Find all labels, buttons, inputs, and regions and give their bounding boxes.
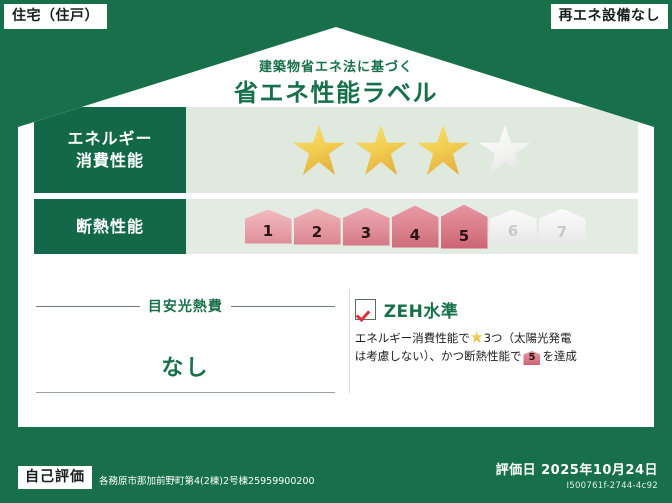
star-rating [186, 107, 638, 193]
cost-bottom-divider [36, 392, 335, 393]
insulation-level-badge-active: 3 [343, 208, 390, 246]
self-evaluation-block: 自己評価 各務原市那加前野町第4(2棟)2号棟25959900200 [18, 466, 315, 489]
footer-bar: 自己評価 各務原市那加前野町第4(2棟)2号棟25959900200 評価日 2… [0, 445, 672, 503]
insulation-level-badge-active: 2 [294, 209, 341, 245]
property-address: 各務原市那加前野町第4(2棟)2号棟25959900200 [99, 477, 315, 490]
title-subtitle: 建築物省エネ法に基づく [18, 61, 654, 74]
insulation-label-text: 断熱性能 [76, 216, 144, 238]
zeh-description: エネルギー消費性能で3つ（太陽光発電 は考慮しない）、かつ断熱性能で5を達成 [355, 330, 640, 366]
insulation-level-badge-inactive: 6 [490, 210, 537, 244]
energy-label-line2: 消費性能 [76, 150, 144, 172]
inline-level-badge: 5 [523, 351, 540, 366]
insulation-level-scale: 1234567 [186, 199, 638, 254]
cost-rule-right [231, 306, 335, 307]
star-filled-icon [293, 125, 345, 175]
inline-star-icon [471, 331, 483, 343]
evaluation-id: I500761f-2744-4c92 [496, 481, 658, 491]
star-empty-icon [479, 125, 531, 175]
renewable-energy-tag: 再エネ設備なし [551, 4, 669, 29]
cost-rule-left [36, 306, 140, 307]
zeh-desc-part4: を達成 [542, 349, 577, 363]
energy-performance-row: エネルギー 消費性能 [34, 107, 638, 193]
zeh-header: ZEH水準 [355, 297, 640, 322]
insulation-level-badge-active: 5 [441, 205, 488, 249]
insulation-level-badge-active: 1 [245, 210, 292, 244]
evaluation-date: 評価日 2025年10月24日 [496, 463, 658, 479]
zeh-checkbox-checked-icon[interactable] [355, 299, 376, 320]
insulation-level-badge-active: 4 [392, 206, 439, 248]
zeh-desc-part2: 3つ（太陽光発電 [484, 331, 572, 345]
label-card: 建築物省エネ法に基づく 省エネ性能ラベル エネルギー 消費性能 断熱性能 123… [18, 27, 654, 427]
insulation-performance-label: 断熱性能 [34, 199, 186, 254]
utility-cost-header: 目安光熱費 [36, 296, 335, 316]
utility-cost-value: なし [36, 350, 335, 382]
energy-label-line1: エネルギー [67, 128, 152, 150]
title-block: 建築物省エネ法に基づく 省エネ性能ラベル [18, 61, 654, 105]
evaluation-info: 評価日 2025年10月24日 I500761f-2744-4c92 [496, 463, 658, 491]
energy-label-root: 住宅（住戸） 再エネ設備なし 建築物省エネ法に基づく 省エネ性能ラベル エネルギ… [0, 0, 672, 503]
ratings-section: エネルギー 消費性能 断熱性能 1234567 [34, 107, 638, 260]
zeh-desc-part3: は考慮しない）、かつ断熱性能で [355, 349, 522, 363]
energy-performance-label: エネルギー 消費性能 [34, 107, 186, 193]
lower-section: 目安光熱費 なし ZEH水準 エネルギー消費性能で3つ（太陽光発電 は考慮しない… [18, 283, 654, 427]
insulation-performance-row: 断熱性能 1234567 [34, 199, 638, 254]
star-filled-icon [355, 125, 407, 175]
zeh-title: ZEH水準 [384, 297, 459, 322]
utility-cost-block: 目安光熱費 なし [18, 283, 349, 427]
building-type-tag: 住宅（住戸） [4, 4, 107, 29]
page-title: 省エネ性能ラベル [18, 81, 654, 105]
star-filled-icon [417, 125, 469, 175]
self-evaluation-tag: 自己評価 [18, 466, 92, 489]
insulation-level-badge-inactive: 7 [539, 209, 586, 245]
utility-cost-title: 目安光熱費 [148, 296, 223, 316]
zeh-block: ZEH水準 エネルギー消費性能で3つ（太陽光発電 は考慮しない）、かつ断熱性能で… [349, 283, 654, 427]
zeh-desc-part1: エネルギー消費性能で [355, 331, 470, 345]
